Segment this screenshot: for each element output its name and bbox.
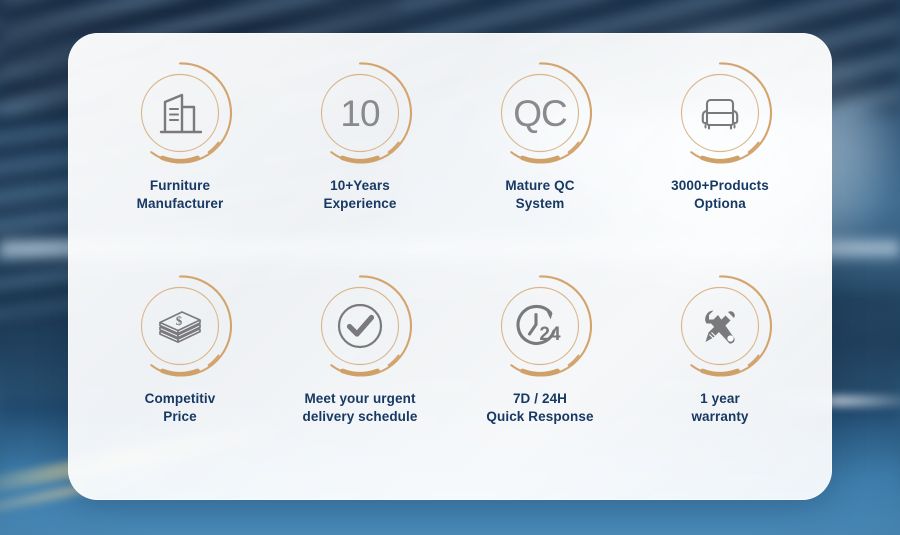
armchair-sofa-icon [692,85,748,141]
badge-ring [666,272,774,380]
qc-letters-icon: QC [512,85,568,141]
feature-item-competitive-price[interactable]: $ Competitiv Price [90,270,270,481]
clock-24-label: 24 [539,324,561,345]
feature-caption: Competitiv Price [145,390,216,426]
badge-ring: 10 [306,59,414,167]
svg-text:$: $ [176,313,183,328]
badge-ring [306,272,414,380]
wrench-screwdriver-icon [692,298,748,354]
badge-ring: 24 [486,272,594,380]
feature-caption: 3000+Products Optiona [671,177,769,213]
feature-caption: 1 year warranty [691,390,748,426]
clock-24h-icon: 24 [512,298,568,354]
office-building-icon [152,85,208,141]
feature-caption: Mature QC System [505,177,574,213]
feature-caption: 7D / 24H Quick Response [486,390,593,426]
money-stack-icon: $ [152,298,208,354]
feature-item-products-optional[interactable]: 3000+Products Optiona [630,59,810,270]
feature-item-years-experience[interactable]: 10 10+Years Experience [270,59,450,270]
badge-ring [666,59,774,167]
feature-item-urgent-delivery[interactable]: Meet your urgent delivery schedule [270,270,450,481]
badge-glyph-text: 10 [340,95,379,132]
number-10-icon: 10 [332,85,388,141]
check-circle-icon [332,298,388,354]
feature-item-furniture-manufacturer[interactable]: Furniture Manufacturer [90,59,270,270]
feature-item-mature-qc-system[interactable]: QC Mature QC System [450,59,630,270]
feature-caption: 10+Years Experience [323,177,396,213]
badge-ring [126,59,234,167]
feature-caption: Furniture Manufacturer [137,177,224,213]
promo-banner: Furniture Manufacturer [0,0,900,535]
feature-caption: Meet your urgent delivery schedule [302,390,417,426]
feature-item-quick-response[interactable]: 24 7D / 24H Quick Response [450,270,630,481]
badge-ring: QC [486,59,594,167]
feature-item-one-year-warranty[interactable]: 1 year warranty [630,270,810,481]
badge-ring: $ [126,272,234,380]
badge-glyph-text: QC [513,95,567,132]
features-card: Furniture Manufacturer [68,33,832,500]
features-grid: Furniture Manufacturer [90,59,810,480]
